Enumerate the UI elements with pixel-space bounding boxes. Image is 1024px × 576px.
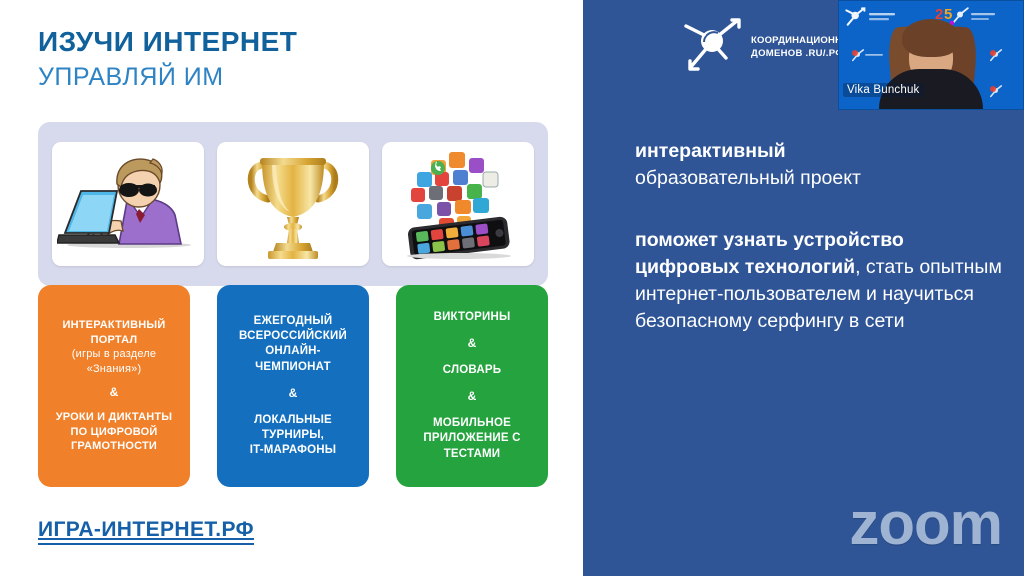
person-at-laptop-card bbox=[52, 142, 204, 266]
feature-box-portal-note: (игры в разделе«Знания») bbox=[72, 347, 156, 376]
panel-paragraph-1: интерактивный образовательный проект bbox=[635, 138, 1007, 193]
person-at-laptop-illustration bbox=[57, 149, 199, 259]
page-subtitle: УПРАВЛЯЙ ИМ bbox=[38, 62, 297, 93]
feature-box-quizzes-amp2: & bbox=[468, 389, 477, 405]
feature-box-quizzes: ВИКТОРИНЫ & СЛОВАРЬ & МОБИЛЬНОЕПРИЛОЖЕНИ… bbox=[396, 285, 548, 487]
panel-description: интерактивный образовательный проект пом… bbox=[635, 138, 1007, 336]
feature-box-quizzes-mid: СЛОВАРЬ bbox=[443, 363, 501, 378]
satellite-icon bbox=[682, 16, 744, 80]
feature-boxes: ИНТЕРАКТИВНЫЙПОРТАЛ (игры в разделе«Знан… bbox=[38, 285, 548, 487]
feature-box-portal-head: ИНТЕРАКТИВНЫЙПОРТАЛ bbox=[63, 318, 166, 347]
panel-paragraph-2: поможет узнать устройство цифровых техно… bbox=[635, 227, 1007, 336]
webcam-participant-name: Vika Bunchuk bbox=[843, 83, 924, 97]
feature-box-championship-amp: & bbox=[289, 386, 298, 402]
webcam-participant-tile[interactable]: 2 5 bbox=[838, 0, 1024, 110]
feature-box-championship-tail: ЛОКАЛЬНЫЕТУРНИРЫ,IT-МАРАФОНЫ bbox=[250, 413, 337, 459]
slide-title-block: ИЗУЧИ ИНТЕРНЕТ УПРАВЛЯЙ ИМ bbox=[38, 26, 297, 93]
presentation-slide: ИЗУЧИ ИНТЕРНЕТ УПРАВЛЯЙ ИМ bbox=[0, 0, 1024, 576]
feature-box-portal-amp: & bbox=[110, 385, 119, 401]
smartphone-apps-illustration bbox=[387, 148, 529, 260]
zoom-watermark: zoom bbox=[849, 494, 1002, 554]
illustration-card-container bbox=[38, 122, 548, 286]
feature-box-quizzes-head: ВИКТОРИНЫ bbox=[434, 310, 511, 325]
page-title: ИЗУЧИ ИНТЕРНЕТ bbox=[38, 26, 297, 58]
feature-box-quizzes-amp1: & bbox=[468, 336, 477, 352]
feature-box-championship-head: ЕЖЕГОДНЫЙВСЕРОССИЙСКИЙОНЛАЙН-ЧЕМПИОНАТ bbox=[239, 314, 347, 375]
webcam-person-hair-top bbox=[902, 19, 960, 57]
trophy-card bbox=[217, 142, 369, 266]
panel-p1-bold: интерактивный bbox=[635, 140, 786, 162]
smartphone-apps-card bbox=[382, 142, 534, 266]
feature-box-portal-tail: УРОКИ И ДИКТАНТЫПО ЦИФРОВОЙГРАМОТНОСТИ bbox=[56, 410, 173, 454]
panel-p1-rest: образовательный проект bbox=[635, 167, 861, 189]
feature-box-quizzes-tail: МОБИЛЬНОЕПРИЛОЖЕНИЕ СТЕСТАМИ bbox=[423, 416, 520, 462]
slide-left-pane: ИЗУЧИ ИНТЕРНЕТ УПРАВЛЯЙ ИМ bbox=[0, 0, 583, 576]
project-website-link[interactable]: ИГРА-ИНТЕРНЕТ.РФ bbox=[38, 518, 254, 545]
feature-box-portal: ИНТЕРАКТИВНЫЙПОРТАЛ (игры в разделе«Знан… bbox=[38, 285, 190, 487]
svg-text:5: 5 bbox=[944, 6, 952, 23]
feature-box-championship: ЕЖЕГОДНЫЙВСЕРОССИЙСКИЙОНЛАЙН-ЧЕМПИОНАТ &… bbox=[217, 285, 369, 487]
gold-trophy-illustration bbox=[238, 147, 348, 262]
